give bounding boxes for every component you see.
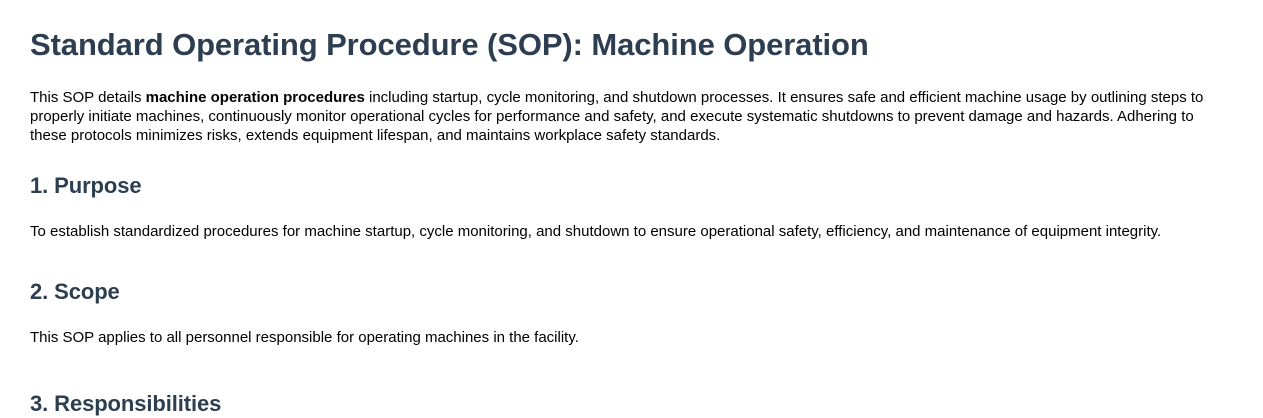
section-heading-scope: 2. Scope	[30, 242, 1233, 305]
document-body: Standard Operating Procedure (SOP): Mach…	[0, 0, 1263, 418]
intro-emphasis-text: machine operation procedures	[146, 89, 365, 106]
intro-paragraph: This SOP details machine operation proce…	[30, 63, 1233, 146]
section-heading-purpose: 1. Purpose	[30, 146, 1233, 199]
section-scope: 2. Scope This SOP applies to all personn…	[30, 242, 1233, 348]
section-heading-responsibilities: 3. Responsibilities	[30, 347, 1233, 417]
section-body-scope: This SOP applies to all personnel respon…	[30, 305, 1233, 347]
section-body-purpose: To establish standardized procedures for…	[30, 199, 1233, 241]
intro-lead-text: This SOP details	[30, 89, 146, 106]
section-responsibilities: 3. Responsibilities	[30, 347, 1233, 417]
page-title: Standard Operating Procedure (SOP): Mach…	[30, 0, 1233, 63]
section-purpose: 1. Purpose To establish standardized pro…	[30, 146, 1233, 242]
